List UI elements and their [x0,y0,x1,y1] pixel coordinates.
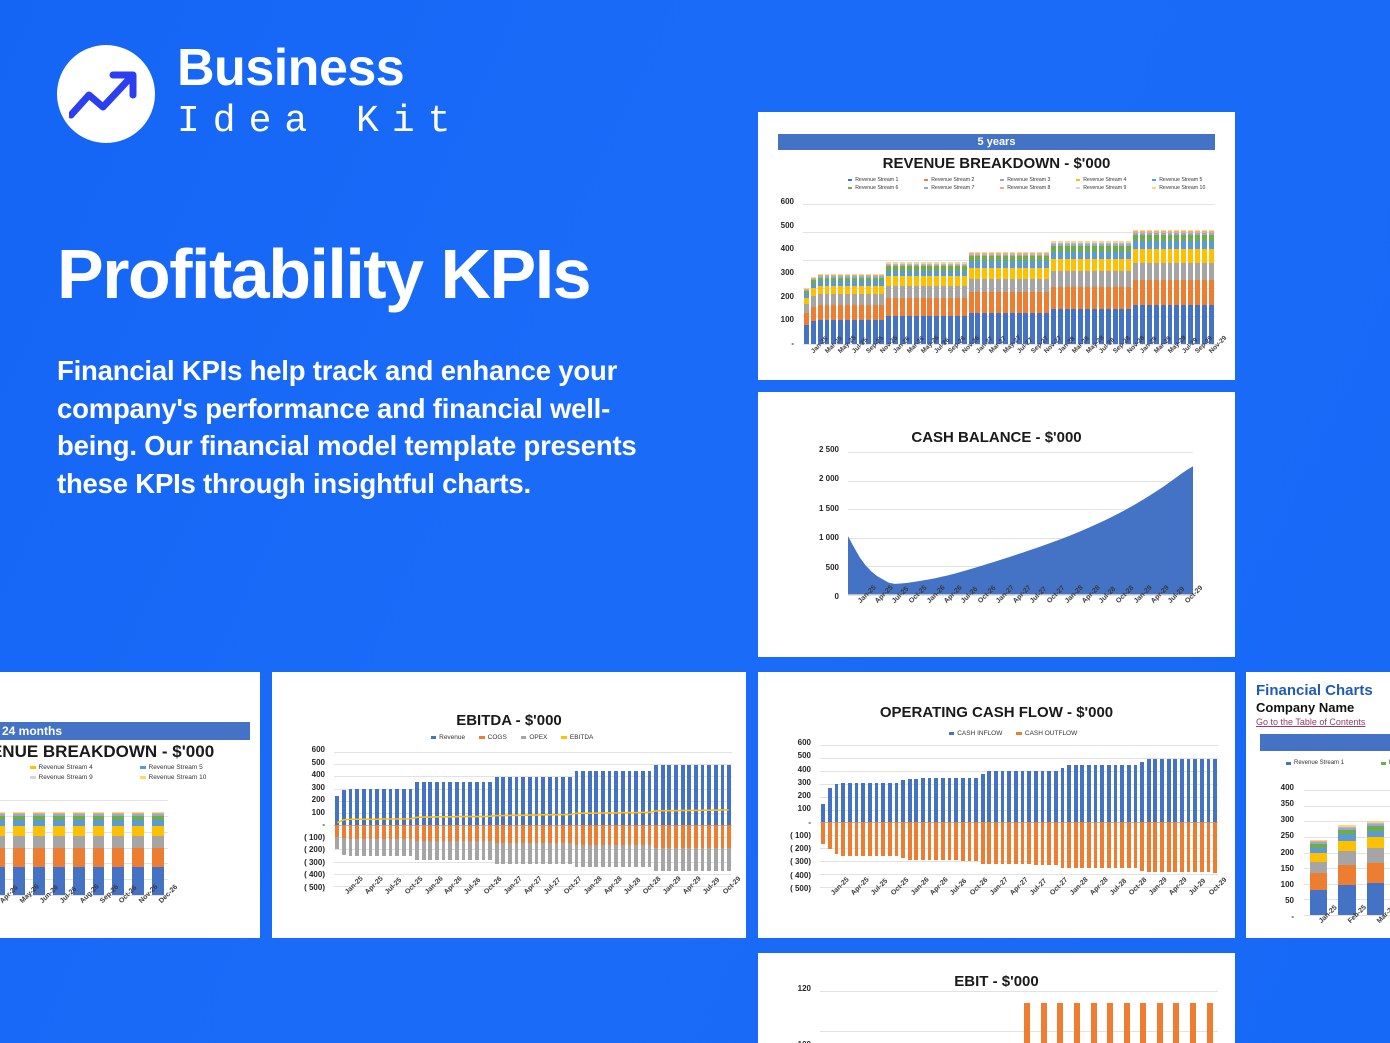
bar-segment [1119,243,1124,245]
table-of-contents-link[interactable]: Go to the Table of Contents [1256,717,1365,727]
bar-segment [701,825,705,848]
bar-segment [468,841,472,860]
bar-segment [1133,280,1138,305]
y-axis-tick: 300 [758,779,811,787]
bar-segment [852,286,857,294]
bar-segment [1174,231,1179,233]
bar-segment [835,822,839,854]
bar-segment [1180,822,1184,872]
bar [361,752,368,886]
bar-segment [93,848,105,866]
bar-segment [661,765,665,825]
legend-item: Revenue Stream 4 [1076,177,1152,183]
bar-segment [73,820,85,826]
y-axis-tick: 300 [758,269,794,277]
bar-segment [701,765,705,825]
bar-segment [1037,252,1042,253]
brand-logo: Business Idea Kit [57,42,463,146]
bar-segment [112,820,124,826]
bar-segment [852,276,857,277]
bar-segment [1154,230,1159,231]
bar-segment [1092,259,1097,271]
bar-segment [921,778,925,822]
bar-segment [13,816,25,820]
bar-segment [152,836,164,848]
bar-segment [866,276,871,277]
bar-segment [1106,244,1111,246]
bar-segment [927,298,932,316]
bar-segment [1014,822,1018,864]
banner-24-months: 24 months [0,722,250,740]
bar-segment [1202,249,1207,263]
bar-segment [996,261,1001,267]
bar-segment [1181,263,1186,280]
bar-segment [667,848,671,871]
bar-segment [994,822,998,864]
bar-segment [1010,256,1015,261]
bar-segment [811,279,816,280]
bar [586,752,593,886]
bar-segment [1209,230,1214,231]
bar-segment [888,783,892,822]
bar [1077,204,1084,344]
bar-segment [818,294,823,305]
bar-segment [93,816,105,820]
bar-segment [996,253,1001,254]
bar-segment [873,278,878,282]
bar-segment [804,289,809,290]
bar-segment [955,266,960,270]
bar-segment [455,782,459,825]
bar-segment [409,789,413,826]
bar-segment [362,789,366,826]
bar [1105,204,1112,344]
bar [1159,745,1166,887]
bar-segment [828,788,832,823]
bar-segment [73,812,85,813]
bar-segment [989,255,994,257]
bar-segment [941,822,945,859]
bar [969,991,986,1043]
bar-segment [1140,230,1145,231]
bar-segment [468,782,472,825]
bar [726,752,733,886]
bar [953,991,970,1043]
bar-segment [975,279,980,293]
legend-swatch [140,776,146,780]
bar-segment [1044,252,1049,253]
bar-segment [1168,230,1173,231]
bar [913,745,920,887]
bar-segment [415,782,419,825]
bar-segment [1181,230,1186,231]
bar-segment [53,820,65,826]
bar-segment [634,825,638,845]
bar-segment [838,294,843,305]
bar [1052,991,1069,1043]
bar-segment [927,276,932,286]
y-axis-tick: 50 [1250,897,1294,905]
bar-segment [501,843,505,864]
bar [893,745,900,887]
bar-segment [1003,261,1008,267]
bar-segment [422,825,426,841]
bar-segment [974,822,978,861]
bar-segment [859,278,864,282]
bar-segment [1181,249,1186,263]
bar-segment [482,841,486,860]
bar-segment [694,825,698,848]
bar-segment [634,845,638,867]
bar-segment [1127,822,1131,867]
bar-segment [73,813,85,814]
bar-segment [33,813,45,814]
bar-segment [1338,851,1355,864]
bar-segment [852,305,857,320]
y-axis-tick: 350 [1250,800,1294,808]
bar-segment [859,281,864,286]
bar-segment [1023,253,1028,254]
bar-segment [1168,233,1173,235]
bar-segment [1024,1003,1030,1043]
bar-segment [873,286,878,294]
bar-segment [875,822,879,855]
bar-segment [1119,287,1124,310]
bar-segment [1021,771,1025,822]
bar-segment [1085,242,1090,243]
bar-segment [866,305,871,320]
bar-segment [868,783,872,822]
bar [148,800,168,895]
bar [527,752,534,886]
bar-segment [859,294,864,305]
chart-title-operating-cash-flow: OPERATING CASH FLOW - $'000 [758,704,1235,721]
bar-segment [1367,848,1384,862]
bar-segment [900,276,905,286]
bar-segment [934,286,939,298]
bar-segment [648,825,652,845]
bar-segment [1092,271,1097,286]
bar-segment [845,275,850,276]
bar-segment [859,305,864,320]
bar-segment [1085,271,1090,286]
legend-item: Revenue Stream 7 [924,185,1000,191]
bar-segment [1058,241,1063,242]
bar-segment [848,822,852,855]
bar-segment [1092,244,1097,246]
bar-segment [687,765,691,825]
bar-segment [1209,263,1214,280]
bar-segment [382,825,386,839]
bar [1199,745,1206,887]
bar-segment [818,278,823,282]
bar-segment [614,771,618,825]
bar-segment [1195,230,1200,231]
bar-segment [1061,822,1065,867]
bar-segment [721,848,725,871]
bar [467,752,474,886]
bar-segment [1140,280,1145,305]
bar [986,745,993,887]
bar [840,745,847,887]
bar-segment [1099,252,1104,259]
bar-segment [1065,259,1070,271]
bar-segment [93,812,105,813]
bar-segment [927,264,932,265]
bar-segment [1140,822,1144,871]
legend-label: Revenue Stream 10 [1159,185,1205,191]
bar-segment [13,848,25,866]
bar [1098,204,1105,344]
bar [553,752,560,886]
bar-segment [1168,280,1173,305]
bar-segment [442,825,446,841]
bar [1036,204,1043,344]
bar-segment [132,812,144,813]
bar-segment [934,263,939,264]
bar [1146,204,1153,344]
bar-segment [1074,822,1078,868]
bar [354,752,361,886]
bar-segment [73,826,85,836]
y-axis-tick: ( 300) [272,859,325,867]
bar-segment [907,276,912,286]
y-axis-tick: 400 [758,766,811,774]
bar-segment [435,782,439,825]
bar-segment [879,274,884,275]
bar-segment [0,813,5,814]
bar-series [0,800,168,895]
bar-segment [395,789,399,826]
bar-segment [335,837,339,850]
bar-segment [1147,759,1151,822]
bar-segment [555,843,559,864]
bar [1039,745,1046,887]
bar-segment [1044,279,1049,293]
bar-segment [1133,263,1138,280]
bar-segment [1367,837,1384,848]
bar-segment [1017,256,1022,261]
bar-segment [0,820,5,826]
bar-segment [934,298,939,316]
bar-segment [825,286,830,294]
bar-series [334,752,732,886]
bar-segment [845,286,850,294]
bar-segment [1094,822,1098,868]
bar-segment [621,771,625,825]
bar-segment [674,765,678,825]
bar-segment [608,825,612,845]
bar-segment [1310,842,1327,844]
bar-segment [1092,243,1097,245]
y-axis-tick: 600 [758,739,811,747]
plot-cash-balance [848,452,1193,595]
legend-swatch [949,732,955,736]
bar-segment [907,266,912,270]
bar-segment [1207,759,1211,822]
bar [833,745,840,887]
bar [1135,991,1152,1043]
legend-label: Revenue Stream 8 [1007,185,1050,191]
bar-segment [1091,1003,1097,1043]
bar-segment [1188,249,1193,263]
bar-segment [969,268,974,279]
bar-segment [845,274,850,275]
bar-segment [1078,252,1083,259]
bar-segment [907,263,912,264]
bar-segment [831,274,836,275]
bar-segment [555,825,559,843]
bar-segment [962,298,967,316]
bar [892,204,899,344]
bar-segment [914,264,919,265]
bar-segment [907,271,912,277]
bar-segment [1188,233,1193,235]
bar-segment [873,276,878,277]
bar-segment [681,765,685,825]
bar-segment [1140,249,1145,263]
bar [1185,991,1202,1043]
legend-item: COGS [479,734,507,741]
y-axis-tick: 100 [1250,881,1294,889]
bar-segment [1338,826,1355,827]
bar-segment [921,822,925,859]
bar-segment [674,825,678,848]
y-axis-tick: ( 200) [272,846,325,854]
panel-subtitle: Company Name [1256,700,1354,715]
bar-segment [881,822,885,855]
bar-segment [1188,263,1193,280]
bar-segment [482,782,486,825]
bar [1046,745,1053,887]
bar [995,204,1002,344]
bar-segment [395,839,399,856]
bar-segment [1085,244,1090,246]
bar [885,204,892,344]
bar-segment [921,271,926,277]
bar-segment [548,843,552,864]
bar-segment [804,291,809,294]
bar-segment [811,321,816,344]
bar-segment [1100,822,1104,868]
bar-segment [375,825,379,839]
legend-label: CASH OUTFLOW [1025,730,1077,737]
bar-segment [1133,235,1138,241]
bar-segment [721,765,725,825]
bar [367,752,374,886]
bar-segment [1003,255,1008,257]
bar-segment [1157,1003,1163,1043]
bar-segment [934,276,939,286]
bar-segment [1181,233,1186,235]
bar-segment [875,783,879,822]
bar [988,204,995,344]
bar-segment [541,843,545,864]
bar-segment [568,825,572,843]
legend-label: Revenue Stream 9 [1083,185,1126,191]
bar-segment [1147,822,1151,872]
bar [1112,204,1119,344]
bar-segment [488,825,492,841]
bar-segment [831,278,836,282]
bar-segment [835,784,839,822]
bar-segment [1051,259,1056,271]
legend-label: Revenue [439,734,465,741]
plot-ebitda [334,752,732,886]
bar-segment [508,777,512,825]
bar-segment [881,783,885,822]
card-ebitda: EBITDA - $'000 RevenueCOGSOPEXEBITDA 600… [272,672,746,938]
bar-segment [893,263,898,264]
legend-revenue-streams: Revenue Stream 1Revenue Stream 2Revenue … [848,177,1228,191]
bar-segment [1168,235,1173,241]
bar-segment [914,271,919,277]
bar-segment [1065,252,1070,259]
bar-segment [1195,249,1200,263]
bar-segment [1174,230,1179,231]
bar-segment [694,848,698,871]
bar [1201,204,1208,344]
bar-segment [1107,765,1111,822]
bar-segment [996,268,1001,279]
bar-segment [1195,263,1200,280]
bar-segment [928,822,932,859]
bar-segment [1113,259,1118,271]
bar-segment [1153,822,1157,872]
bar-segment [1071,259,1076,271]
bar-segment [1074,1003,1080,1043]
bar-segment [362,839,366,856]
bar-segment [594,771,598,825]
bar-segment [1030,279,1035,293]
bar-segment [975,268,980,279]
bar [387,752,394,886]
bar-segment [541,777,545,825]
bar-segment [948,298,953,316]
bar-segment [475,841,479,860]
bar-segment [588,845,592,867]
bar-segment [1065,242,1070,243]
bar-segment [475,825,479,841]
bar-segment [948,263,953,264]
legend-swatch [1000,187,1004,189]
bar-segment [941,286,946,298]
legend-item: Revenue Stream 4 [30,764,140,771]
legend-swatch [1152,187,1156,189]
bar-segment [349,789,353,826]
bar-segment [355,839,359,856]
bar-segment [528,825,532,843]
legend-label: EBITDA [570,734,593,741]
bar-segment [989,268,994,279]
bar-segment [132,826,144,836]
bar-segment [1161,230,1166,231]
bar [1201,991,1218,1043]
bar-segment [811,278,816,279]
bar-segment [1195,241,1200,249]
bar [0,800,9,895]
bar-segment [962,276,967,286]
bar-segment [1051,243,1056,245]
bar-segment [855,822,859,855]
bar-segment [1147,263,1152,280]
bar-segment [528,843,532,864]
bar-segment [1113,243,1118,245]
bar-segment [921,298,926,316]
x-axis-ebitda: Jan-25Apr-25Jul-25Oct-25Jan-26Apr-26Jul-… [334,889,732,931]
bar [837,204,844,344]
y-axis-tick: 200 [758,293,794,301]
